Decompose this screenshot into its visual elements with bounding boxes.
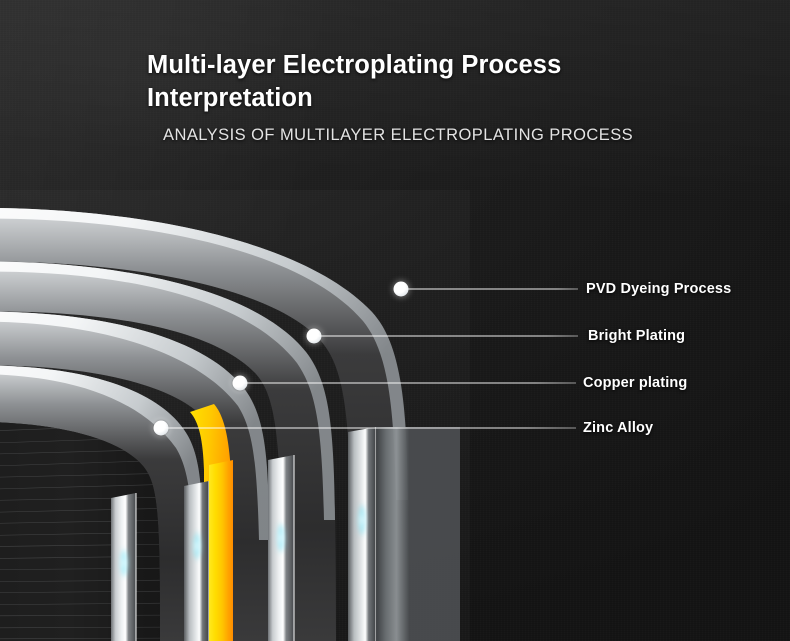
callout-label-pvd-dyeing-process: PVD Dyeing Process [586,281,731,297]
callout-label-copper-plating: Copper plating [583,375,687,391]
callout-label-bright-plating: Bright Plating [588,328,685,344]
callout-leader-line-pvd-dyeing-process [401,289,578,290]
callout-leader-line-zinc-alloy [161,428,576,429]
page-title: Multi-layer Electroplating Process Inter… [147,49,617,114]
callout-label-zinc-alloy: Zinc Alloy [583,420,653,436]
diagram-canvas: Multi-layer Electroplating Process Inter… [0,0,790,641]
callout-leader-line-bright-plating [314,336,578,337]
callout-leader-line-copper-plating [240,383,576,384]
page-subtitle: ANALYSIS OF MULTILAYER ELECTROPLATING PR… [163,126,633,145]
